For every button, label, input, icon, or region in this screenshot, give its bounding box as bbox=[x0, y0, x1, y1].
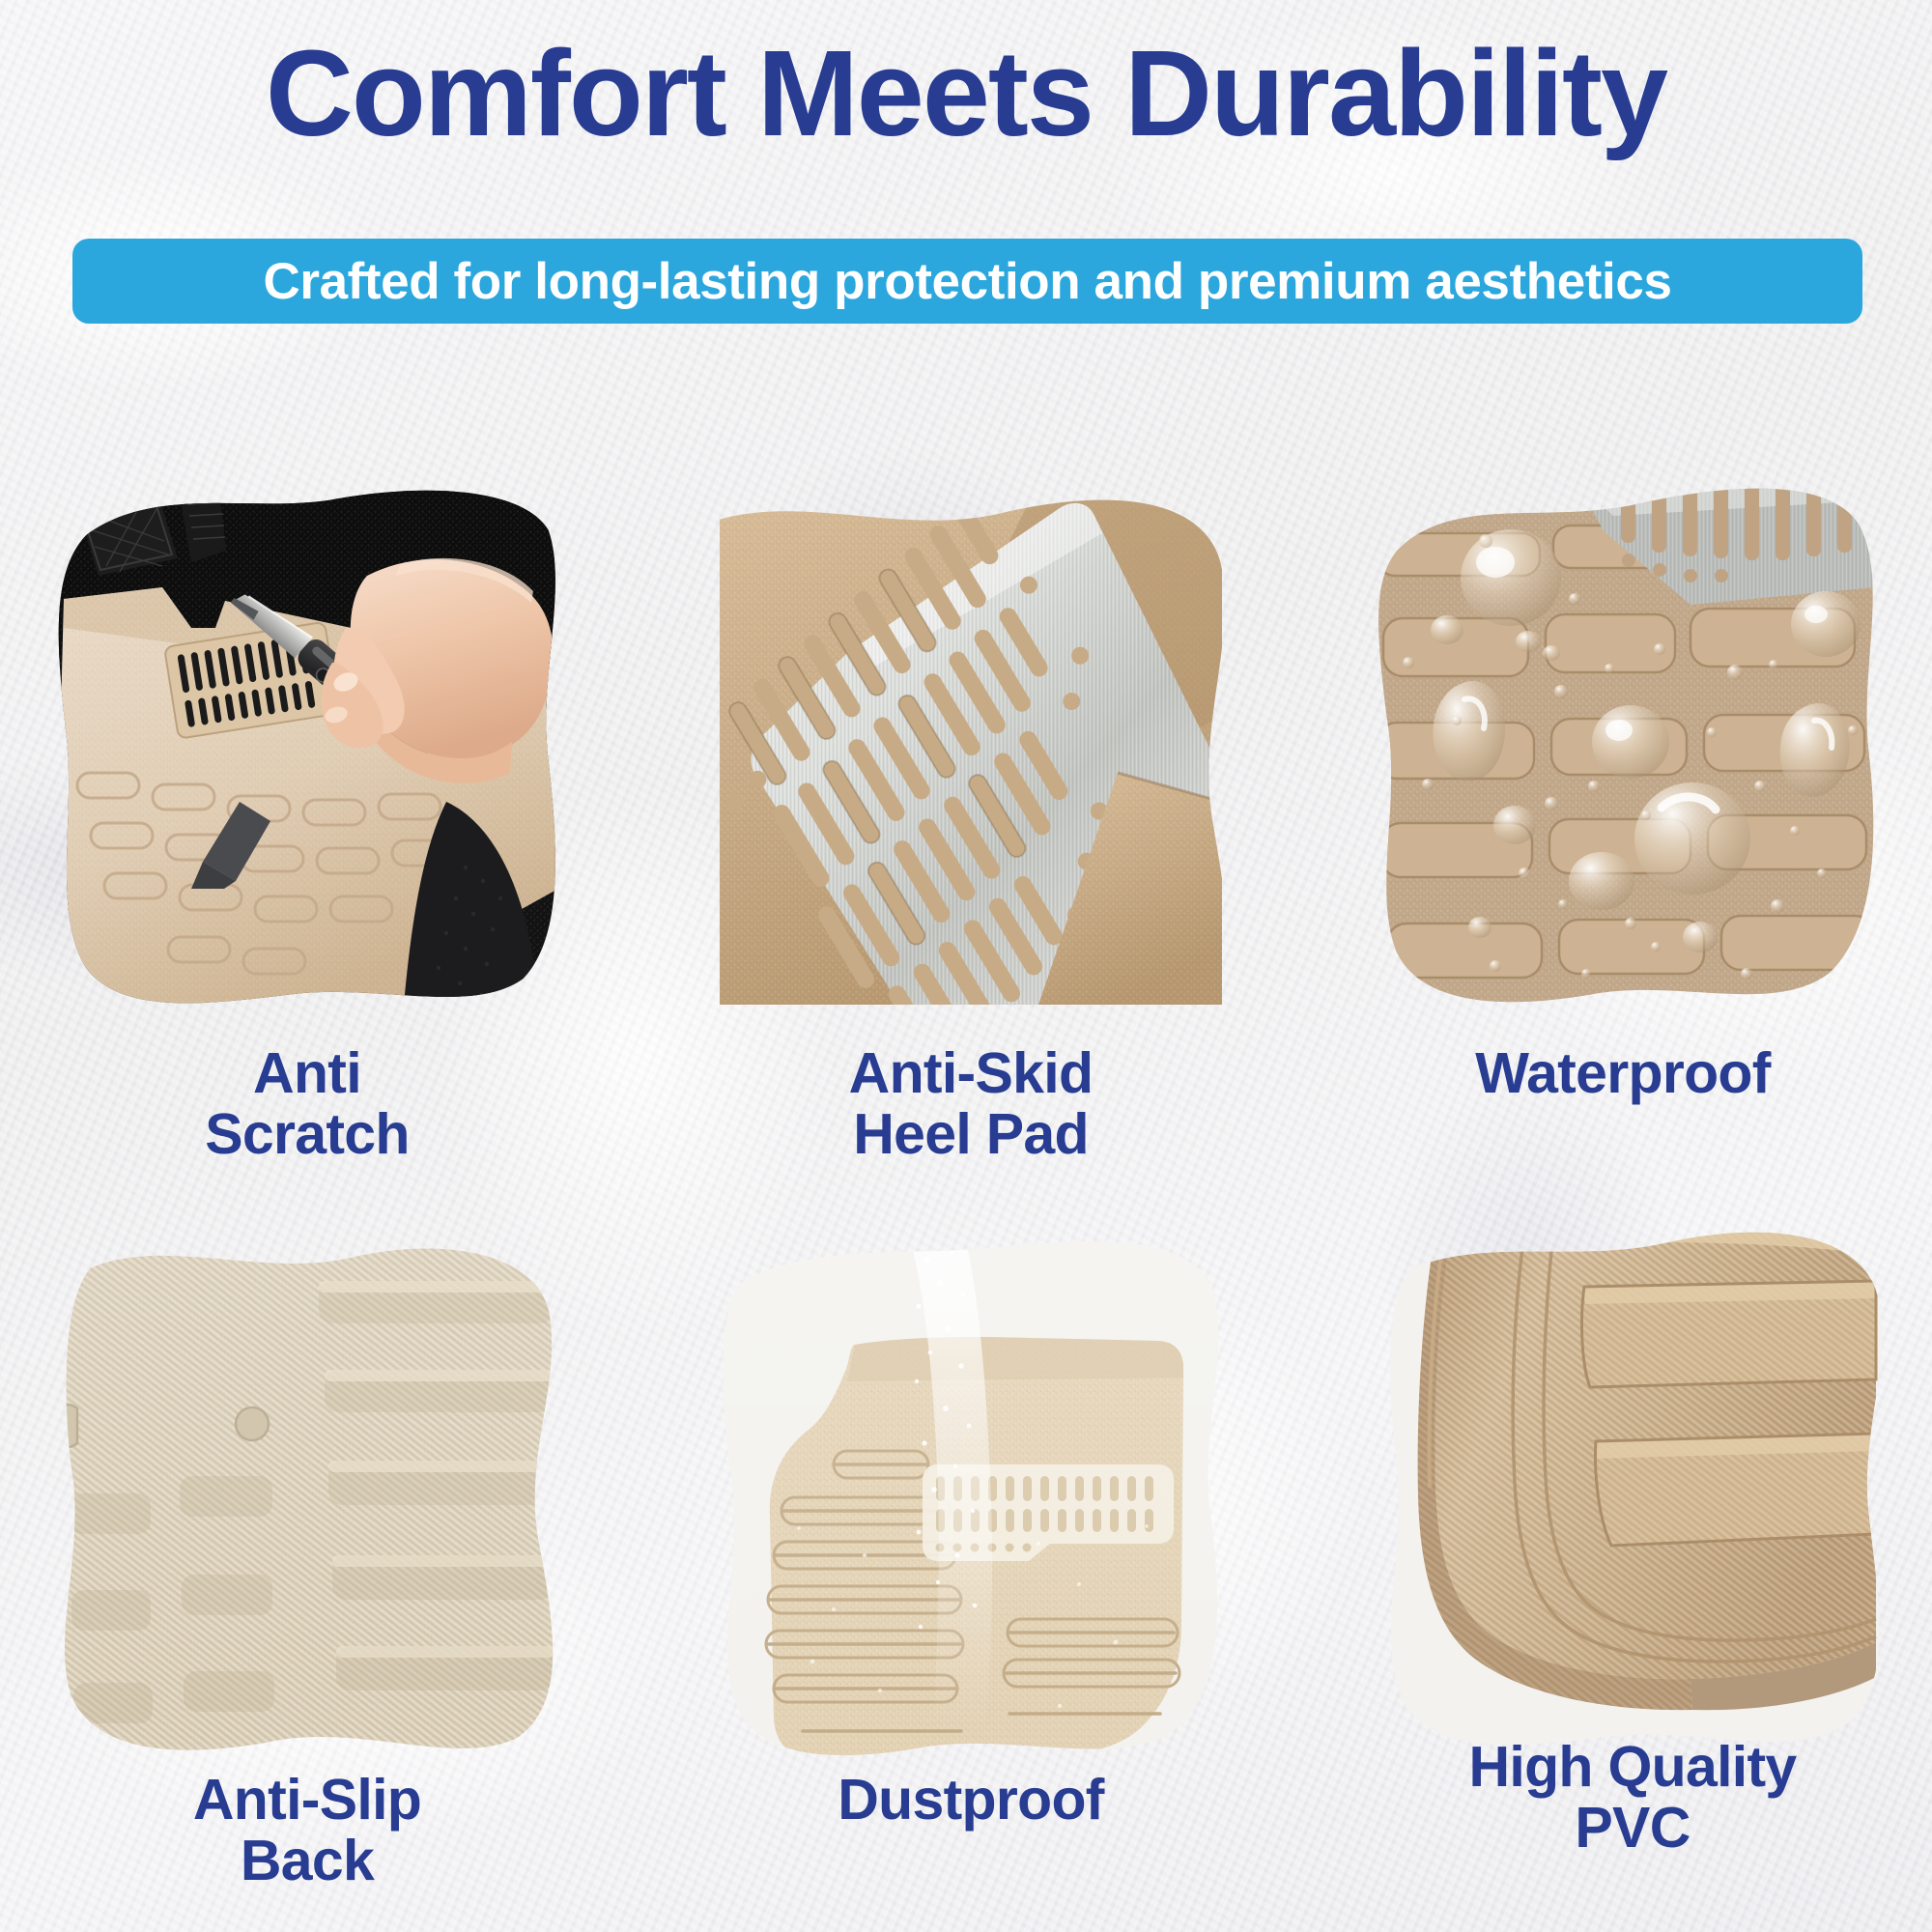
caption-line-1: Waterproof bbox=[1372, 1043, 1874, 1104]
anti-slip-back-photo bbox=[56, 1236, 558, 1758]
caption-line-2: PVC bbox=[1381, 1798, 1884, 1859]
caption-line-1: Dustproof bbox=[720, 1770, 1222, 1831]
caption-line-2: Heel Pad bbox=[720, 1104, 1222, 1165]
caption-line-2: Back bbox=[56, 1831, 558, 1891]
caption-dustproof: Dustproof bbox=[720, 1770, 1222, 1831]
waterproof-photo bbox=[1372, 483, 1874, 1005]
feature-card-anti-slip-back bbox=[56, 1236, 558, 1758]
caption-high-quality-pvc: High Quality PVC bbox=[1381, 1737, 1884, 1859]
feature-card-anti-scratch bbox=[56, 483, 558, 1005]
feature-card-anti-skid-heel-pad bbox=[720, 483, 1222, 1005]
caption-line-2: Scratch bbox=[56, 1104, 558, 1165]
caption-line-1: High Quality bbox=[1381, 1737, 1884, 1798]
caption-line-1: Anti-Slip bbox=[56, 1770, 558, 1831]
infographic-page: Comfort Meets Durability Crafted for lon… bbox=[0, 0, 1932, 1932]
caption-anti-scratch: Anti Scratch bbox=[56, 1043, 558, 1165]
anti-scratch-photo bbox=[56, 483, 558, 1005]
subtitle-banner: Crafted for long-lasting protection and … bbox=[72, 239, 1862, 324]
caption-line-1: Anti-Skid bbox=[720, 1043, 1222, 1104]
feature-card-dustproof bbox=[720, 1236, 1222, 1758]
caption-anti-slip-back: Anti-Slip Back bbox=[56, 1770, 558, 1891]
page-title: Comfort Meets Durability bbox=[0, 33, 1932, 155]
caption-anti-skid-heel-pad: Anti-Skid Heel Pad bbox=[720, 1043, 1222, 1165]
high-quality-pvc-photo bbox=[1381, 1227, 1884, 1748]
feature-card-waterproof bbox=[1372, 483, 1874, 1005]
feature-card-high-quality-pvc bbox=[1381, 1227, 1884, 1748]
anti-skid-heel-pad-photo bbox=[720, 483, 1222, 1005]
caption-waterproof: Waterproof bbox=[1372, 1043, 1874, 1104]
subtitle-text: Crafted for long-lasting protection and … bbox=[263, 256, 1671, 307]
caption-line-1: Anti bbox=[56, 1043, 558, 1104]
dustproof-photo bbox=[720, 1236, 1222, 1758]
